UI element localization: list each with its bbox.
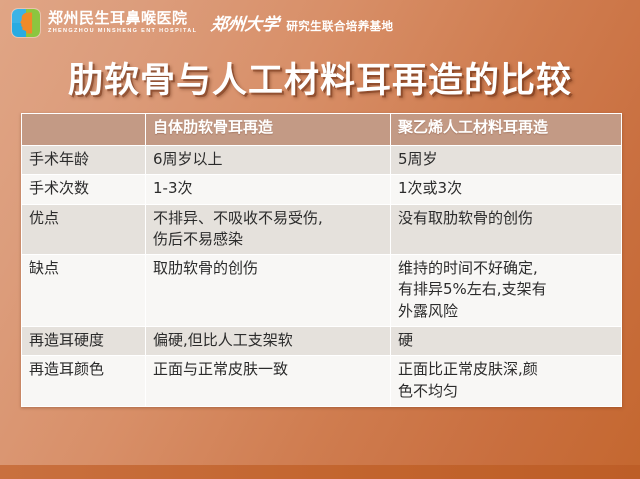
cell-synthetic-advantages: 没有取肋软骨的创伤	[391, 204, 622, 255]
cell-autologous-surgery-count: 1-3次	[146, 175, 391, 204]
cell-synthetic-ear-firmness: 硬	[391, 327, 622, 356]
row-label-ear-color: 再造耳颜色	[22, 356, 146, 407]
hospital-name-en: ZHENGZHOU MINSHENG ENT HOSPITAL	[48, 29, 197, 35]
cell-synthetic-ear-color: 正面比正常皮肤深,颜 色不均匀	[391, 356, 622, 407]
table-body: 手术年龄 6周岁以上 5周岁 手术次数 1-3次 1次或3次 优点	[22, 146, 622, 407]
column-header-autologous: 自体肋软骨耳再造	[146, 114, 391, 146]
table-row: 缺点 取肋软骨的创伤 维持的时间不好确定, 有排异5%左右,支架有 外露风险	[22, 255, 622, 327]
partner-institution: 郑州大学 研究生联合培养基地	[211, 10, 393, 35]
page-title: 肋软骨与人工材料耳再造的比较	[0, 52, 640, 103]
presentation-slide: 郑州民生耳鼻喉医院 ZHENGZHOU MINSHENG ENT HOSPITA…	[0, 0, 640, 479]
table-row: 优点 不排异、不吸收不易受伤, 伤后不易感染 没有取肋软骨的创伤	[22, 204, 622, 255]
row-label-surgery-age: 手术年龄	[22, 146, 146, 175]
table-row: 再造耳颜色 正面与正常皮肤一致 正面比正常皮肤深,颜 色不均匀	[22, 356, 622, 407]
hospital-name-cn: 郑州民生耳鼻喉医院	[48, 11, 197, 26]
cell-autologous-ear-firmness: 偏硬,但比人工支架软	[146, 327, 391, 356]
hospital-banner: 郑州民生耳鼻喉医院 ZHENGZHOU MINSHENG ENT HOSPITA…	[0, 0, 640, 45]
hospital-brand: 郑州民生耳鼻喉医院 ZHENGZHOU MINSHENG ENT HOSPITA…	[48, 11, 197, 35]
cell-synthetic-surgery-count: 1次或3次	[391, 175, 622, 204]
comparison-table: 自体肋软骨耳再造 聚乙烯人工材料耳再造 手术年龄 6周岁以上 5周岁 手术次数 …	[21, 113, 622, 407]
table-header-row: 自体肋软骨耳再造 聚乙烯人工材料耳再造	[22, 114, 622, 146]
table-header: 自体肋软骨耳再造 聚乙烯人工材料耳再造	[22, 114, 622, 146]
partner-subtitle: 研究生联合培养基地	[286, 18, 393, 34]
column-header-synthetic: 聚乙烯人工材料耳再造	[391, 114, 622, 146]
table-row: 手术次数 1-3次 1次或3次	[22, 175, 622, 204]
slide-bottom-band	[0, 465, 640, 479]
table-row: 再造耳硬度 偏硬,但比人工支架软 硬	[22, 327, 622, 356]
cell-synthetic-surgery-age: 5周岁	[391, 146, 622, 175]
row-label-advantages: 优点	[22, 204, 146, 255]
table-row: 手术年龄 6周岁以上 5周岁	[22, 146, 622, 175]
hospital-face-logo-icon	[12, 9, 40, 37]
cell-synthetic-disadvantages: 维持的时间不好确定, 有排异5%左右,支架有 外露风险	[391, 255, 622, 327]
row-label-disadvantages: 缺点	[22, 255, 146, 327]
face-profile-icon	[20, 12, 33, 34]
cell-autologous-surgery-age: 6周岁以上	[146, 146, 391, 175]
partner-name: 郑州大学	[210, 10, 281, 35]
cell-autologous-disadvantages: 取肋软骨的创伤	[146, 255, 391, 327]
row-label-ear-firmness: 再造耳硬度	[22, 327, 146, 356]
cell-autologous-ear-color: 正面与正常皮肤一致	[146, 356, 391, 407]
cell-autologous-advantages: 不排异、不吸收不易受伤, 伤后不易感染	[146, 204, 391, 255]
row-label-surgery-count: 手术次数	[22, 175, 146, 204]
column-header-attribute	[22, 114, 146, 146]
